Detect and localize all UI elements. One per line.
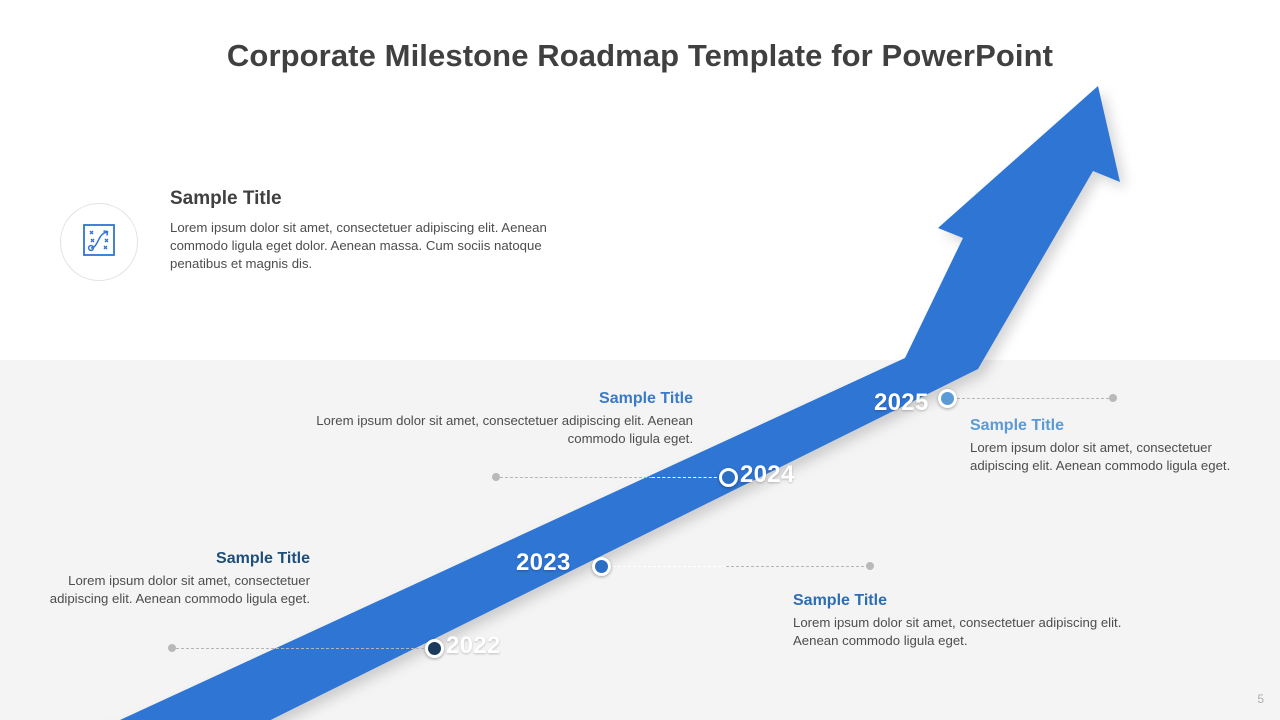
connector-end-dot-2025 [1109, 394, 1117, 402]
milestone-title-2025: Sample Title [970, 417, 1232, 435]
milestone-marker-2024[interactable] [719, 468, 738, 487]
milestone-title-2023: Sample Title [10, 550, 310, 568]
milestone-body-2022: Lorem ipsum dolor sit amet, consectetuer… [793, 614, 1163, 650]
page-number: 5 [1257, 692, 1264, 706]
milestone-body-2024: Lorem ipsum dolor sit amet, consectetuer… [305, 412, 693, 448]
milestone-body-2025: Lorem ipsum dolor sit amet, consectetuer… [970, 439, 1232, 475]
connector-line-2024 [500, 477, 652, 478]
intro-text: Sample Title Lorem ipsum dolor sit amet,… [170, 188, 580, 273]
milestone-text-2025: Sample Title Lorem ipsum dolor sit amet,… [970, 417, 1232, 475]
intro-icon-circle [60, 203, 138, 281]
connector-line-2022 [176, 648, 429, 649]
milestone-title-2024: Sample Title [305, 390, 693, 408]
milestone-text-2023: Sample Title Lorem ipsum dolor sit amet,… [10, 550, 310, 608]
milestone-text-2024: Sample Title Lorem ipsum dolor sit amet,… [305, 390, 693, 448]
connector-line-2024-white [652, 477, 722, 478]
connector-end-dot-2022 [168, 644, 176, 652]
milestone-marker-2023[interactable] [592, 557, 611, 576]
connector-line-2023-white [608, 566, 726, 567]
milestone-body-2023: Lorem ipsum dolor sit amet, consectetuer… [10, 572, 310, 608]
year-label-2025: 2025 [874, 389, 929, 417]
slide-canvas: Corporate Milestone Roadmap Template for… [0, 0, 1280, 720]
milestone-title-2022: Sample Title [793, 592, 1163, 610]
connector-line-2023 [726, 566, 869, 567]
connector-end-dot-2024 [492, 473, 500, 481]
intro-body: Lorem ipsum dolor sit amet, consectetuer… [170, 219, 580, 273]
page-title: Corporate Milestone Roadmap Template for… [0, 38, 1280, 74]
intro-title: Sample Title [170, 188, 580, 210]
milestone-text-2022: Sample Title Lorem ipsum dolor sit amet,… [793, 592, 1163, 650]
milestone-marker-2025[interactable] [938, 389, 957, 408]
milestone-marker-2022[interactable] [425, 639, 444, 658]
year-label-2023: 2023 [516, 549, 571, 577]
strategy-icon [82, 223, 116, 262]
connector-line-2025 [957, 398, 1109, 399]
year-label-2022: 2022 [446, 632, 501, 660]
connector-end-dot-2023 [866, 562, 874, 570]
year-label-2024: 2024 [740, 461, 795, 489]
